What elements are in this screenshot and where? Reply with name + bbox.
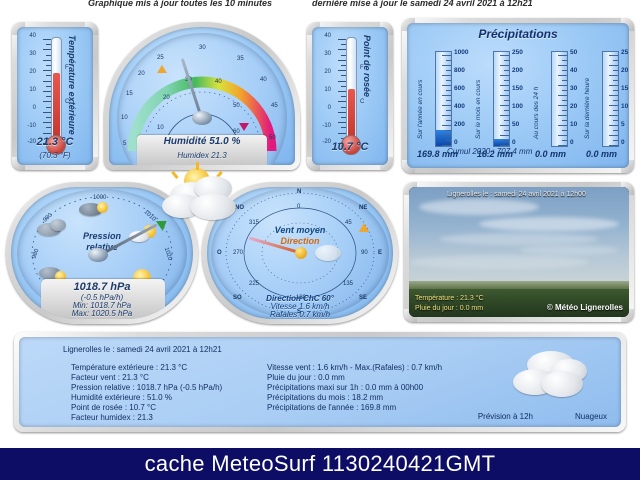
dew-tick-10: 10 xyxy=(324,87,331,93)
precip-value-24h: 0.0 mm xyxy=(535,149,566,159)
precip-tube-hour xyxy=(602,51,619,147)
precip-hour-tick-2: 15 xyxy=(621,85,628,92)
temp-tick-20: 20 xyxy=(29,69,36,75)
summary-right-1: Pluie du jour : 0.0 mm xyxy=(267,373,345,382)
temp-tick-m10: -10 xyxy=(27,123,36,129)
summary-panel[interactable]: Lignerolles le : samedi 24 avril 2021 à … xyxy=(14,332,626,432)
dew-tick-m10: -10 xyxy=(322,123,331,129)
precipitation-panel[interactable]: Précipitations Sur l'année en cours 1000… xyxy=(402,18,634,173)
humidity-gauge-panel[interactable]: 5 10 15 20 25 30 35 40 45 50 10 20 30 40… xyxy=(104,22,300,170)
status-brand: MeteoSurf xyxy=(211,451,315,477)
precip-year-tick-0: 1000 xyxy=(454,49,468,56)
temp-tick-40: 40 xyxy=(29,33,36,39)
dew-tick-30: 30 xyxy=(324,51,331,57)
humidity-value: Humidité 51.0 % xyxy=(109,136,295,147)
wind-deg-0: 0 xyxy=(297,204,300,210)
forecast-cloud-icon xyxy=(511,349,593,405)
hum-inner-tick-5: 50 xyxy=(233,103,240,109)
precip-label-24h: Au cours des 24 h xyxy=(533,53,540,139)
status-prefix: cache xyxy=(145,451,205,477)
dew-point-scale: 40 30 20 10 0 -10 -20 xyxy=(332,35,346,143)
precip-fill-year xyxy=(436,130,451,146)
hum-inner-tick-2: 20 xyxy=(163,95,170,101)
summary-right-4: Précipitations de l'année : 169.8 mm xyxy=(267,403,396,412)
last-update-note: dernière mise à jour le samedi 24 avril … xyxy=(312,0,533,8)
hum-tick-35: 35 xyxy=(237,56,244,62)
summary-left-3: Humidité extérieure : 51.0 % xyxy=(71,393,172,402)
wind-deg-270: 270 xyxy=(233,250,243,256)
summary-heading: Lignerolles le : samedi 24 avril 2021 à … xyxy=(63,345,222,354)
precip-label-hour: Sur la dernière heure xyxy=(584,53,591,139)
pressure-hub xyxy=(88,248,108,262)
temp-tick-30: 30 xyxy=(29,51,36,57)
precip-month-tick-4: 50 xyxy=(512,121,519,128)
weather-dashboard: Graphique mis à jour toutes les 10 minut… xyxy=(0,0,640,480)
precip-hour-tick-0: 25 xyxy=(621,49,628,56)
humidex-value: Humidex 21.3 xyxy=(109,151,295,160)
summary-left-5: Facteur humidex : 21.3 xyxy=(71,413,153,422)
precip-year-tick-3: 400 xyxy=(454,103,465,110)
precipitation-title: Précipitations xyxy=(407,27,629,41)
precipitation-face: Précipitations Sur l'année en cours 1000… xyxy=(407,23,629,168)
precip-year-tick-1: 800 xyxy=(454,67,465,74)
compass-o: O xyxy=(217,250,222,256)
outdoor-temp-tube xyxy=(51,37,62,143)
precip-year-tick-4: 200 xyxy=(454,121,465,128)
precip-tube-month xyxy=(493,51,510,147)
outdoor-temperature-face: 40 30 20 10 0 -10 -20 F C Température ex… xyxy=(17,27,93,165)
wind-deg-90: 90 xyxy=(361,250,368,256)
precip-month-tick-2: 150 xyxy=(512,85,523,92)
outdoor-temp-value-f: (70.3 °F) xyxy=(17,151,93,160)
precip-tube-year xyxy=(435,51,452,147)
summary-right-2: Précipitations maxi sur 1h : 0.0 mm à 00… xyxy=(267,383,423,392)
wind-gust-value: Rafales 0.7 km/h xyxy=(211,310,389,319)
hum-tick-25: 25 xyxy=(157,55,164,61)
precip-year-tick-5: 0 xyxy=(454,139,458,146)
wind-cloud-icon xyxy=(315,245,341,261)
precip-24h-tick-5: 0 xyxy=(570,139,574,146)
precip-year-tick-2: 600 xyxy=(454,85,465,92)
precip-24h-tick-1: 40 xyxy=(570,67,577,74)
precip-cumul-note: Cumul 2020 : 707.4 mm xyxy=(447,147,532,156)
dew-tick-0: 0 xyxy=(328,105,331,111)
compass-e: E xyxy=(378,250,382,256)
webcam-rain: Pluie du jour : 0.0 mm xyxy=(415,305,483,312)
hum-tick-20: 20 xyxy=(138,71,145,77)
precip-month-tick-0: 250 xyxy=(512,49,523,56)
summary-left-2: Pression relative : 1018.7 hPa (-0.5 hPa… xyxy=(71,383,222,392)
forecast-text: Nuageux xyxy=(575,412,607,421)
pressure-value: 1018.7 hPa xyxy=(11,281,193,293)
summary-left-4: Point de rosée : 10.7 °C xyxy=(71,403,156,412)
hum-inner-tick-4: 40 xyxy=(215,79,222,85)
precip-month-tick-1: 200 xyxy=(512,67,523,74)
hum-tick-40: 40 xyxy=(260,77,267,83)
outdoor-temperature-panel[interactable]: 40 30 20 10 0 -10 -20 F C Température ex… xyxy=(12,22,98,170)
precip-label-year: Sur l'année en cours xyxy=(417,53,424,139)
precip-24h-tick-0: 50 xyxy=(570,49,577,56)
humidity-min-marker xyxy=(157,65,167,73)
precip-hour-tick-4: 5 xyxy=(621,121,625,128)
precip-label-month: Sur le mois en cours xyxy=(475,53,482,139)
header-notes: Graphique mis à jour toutes les 10 minut… xyxy=(0,0,640,12)
compass-n: N xyxy=(297,189,301,195)
wind-title-line2: Direction xyxy=(211,236,389,246)
hum-inner-tick-1: 10 xyxy=(157,125,164,131)
status-bar: cache MeteoSurf 1130240421GMT xyxy=(0,448,640,480)
webcam-temp: Température : 21.3 °C xyxy=(415,295,484,302)
hum-tick-30: 30 xyxy=(199,45,206,51)
hum-tick-10: 10 xyxy=(121,115,128,121)
precip-hour-tick-3: 10 xyxy=(621,103,628,110)
dew-point-label: Point de rosée xyxy=(362,35,372,143)
pressure-max: Max: 1020.5 hPa xyxy=(11,309,193,318)
hum-tick-15: 15 xyxy=(126,91,133,97)
current-weather-icon xyxy=(160,168,250,230)
precip-hour-tick-1: 20 xyxy=(621,67,628,74)
summary-right-3: Précipitations du mois : 18.2 mm xyxy=(267,393,383,402)
outdoor-temp-label: Température extérieure xyxy=(67,35,77,143)
precip-tube-24h xyxy=(551,51,568,147)
wind-deg-225: 225 xyxy=(249,281,259,287)
pressure-title-line1: Pression xyxy=(17,231,187,241)
outdoor-temp-scale: 40 30 20 10 0 -10 -20 xyxy=(37,35,51,143)
precip-24h-tick-3: 20 xyxy=(570,103,577,110)
webcam-credit: © Météo Lignerolles xyxy=(547,303,623,312)
webcam-image: Lignerolles le : samedi 24 avril 2021 à … xyxy=(409,187,629,317)
precip-hour-tick-5: 0 xyxy=(621,139,625,146)
forecast-label: Prévision à 12h xyxy=(478,412,533,421)
summary-left-0: Température extérieure : 21.3 °C xyxy=(71,363,187,372)
dew-point-value: 10.7 °C xyxy=(312,141,388,153)
precip-month-tick-3: 100 xyxy=(512,103,523,110)
dew-point-tube xyxy=(346,37,357,143)
wind-hub xyxy=(295,247,307,259)
pressure-tick-1000: 1000 xyxy=(93,195,106,201)
humidity-hub xyxy=(192,111,212,125)
precip-value-hour: 0.0 mm xyxy=(586,149,617,159)
outdoor-temp-value: 21.3 °C xyxy=(17,136,93,148)
summary-right-0: Vitesse vent : 1.6 km/h - Max.(Rafales) … xyxy=(267,363,442,372)
webcam-caption: Lignerolles le : samedi 24 avril 2021 à … xyxy=(447,191,586,198)
wind-deg-135: 135 xyxy=(343,281,353,287)
status-code: 1130240421GMT xyxy=(322,451,496,477)
temp-tick-10: 10 xyxy=(29,87,36,93)
dew-tick-40: 40 xyxy=(324,33,331,39)
dew-point-panel[interactable]: 40 30 20 10 0 -10 -20 F C Point de rosée… xyxy=(307,22,393,170)
hum-tick-45: 45 xyxy=(271,103,278,109)
webcam-panel[interactable]: Lignerolles le : samedi 24 avril 2021 à … xyxy=(404,182,634,322)
compass-ne: NE xyxy=(359,205,367,211)
precip-24h-tick-2: 30 xyxy=(570,85,577,92)
outdoor-temp-mercury xyxy=(53,73,60,142)
wind-max-marker xyxy=(359,223,369,232)
summary-face: Lignerolles le : samedi 24 avril 2021 à … xyxy=(19,337,621,427)
dew-tick-20: 20 xyxy=(324,69,331,75)
dew-point-face: 40 30 20 10 0 -10 -20 F C Point de rosée… xyxy=(312,27,388,165)
temp-tick-0: 0 xyxy=(33,105,36,111)
graph-update-note: Graphique mis à jour toutes les 10 minut… xyxy=(88,0,272,8)
precip-24h-tick-4: 10 xyxy=(570,121,577,128)
humidity-max-marker xyxy=(239,123,249,131)
summary-left-1: Facteur vent : 21.3 °C xyxy=(71,373,149,382)
precip-month-tick-5: 0 xyxy=(512,139,516,146)
